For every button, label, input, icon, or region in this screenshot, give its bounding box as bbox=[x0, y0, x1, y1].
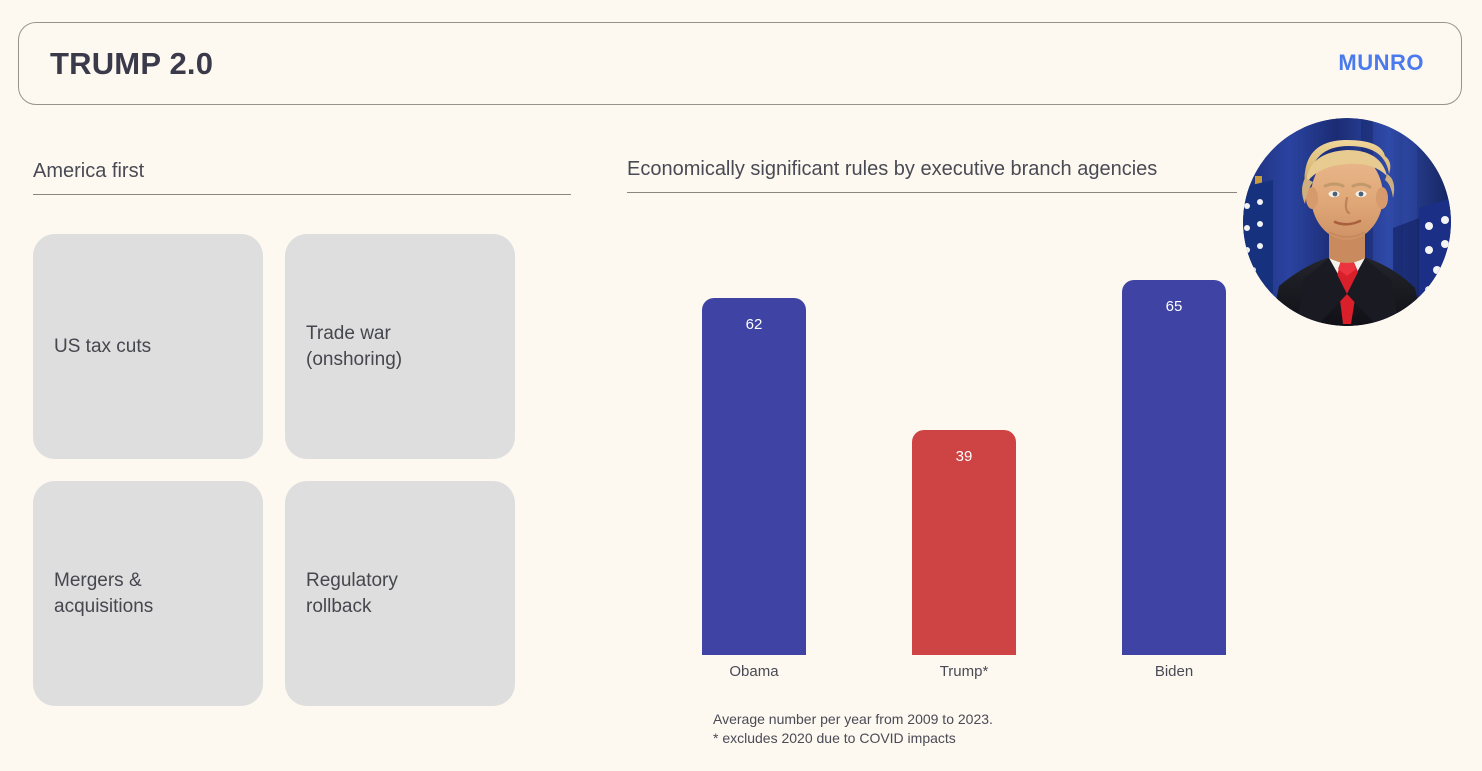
x-tick-label-biden: Biden bbox=[1122, 663, 1226, 680]
fact-card-regulatory-rollback[interactable]: Regulatory rollback bbox=[285, 481, 515, 706]
left-heading-divider bbox=[33, 194, 571, 195]
x-tick-label-obama: Obama bbox=[702, 663, 806, 680]
fact-card-label: Trade war (onshoring) bbox=[306, 321, 402, 373]
right-panel: Economically significant rules by execut… bbox=[627, 158, 1237, 193]
x-tick-label-trump: Trump* bbox=[912, 663, 1016, 680]
chart-footnote: Average number per year from 2009 to 202… bbox=[713, 710, 993, 748]
bar-obama[interactable]: 62 bbox=[702, 298, 806, 655]
bar-value-label: 62 bbox=[746, 316, 763, 333]
fact-card-mergers-acquisitions[interactable]: Mergers & acquisitions bbox=[33, 481, 263, 706]
bar-trump[interactable]: 39 bbox=[912, 430, 1016, 655]
munro-logo: MUNRO bbox=[1338, 50, 1424, 76]
chart-title: Economically significant rules by execut… bbox=[627, 158, 1237, 192]
left-section-heading: America first bbox=[33, 160, 571, 194]
fact-card-label: Regulatory rollback bbox=[306, 568, 398, 620]
fact-card-us-tax-cuts[interactable]: US tax cuts bbox=[33, 234, 263, 459]
fact-card-trade-war[interactable]: Trade war (onshoring) bbox=[285, 234, 515, 459]
page-title: TRUMP 2.0 bbox=[50, 46, 213, 82]
bar-biden[interactable]: 65 bbox=[1122, 280, 1226, 655]
bar-value-label: 39 bbox=[956, 448, 973, 465]
fact-card-label: Mergers & acquisitions bbox=[54, 568, 153, 620]
header-frame bbox=[18, 22, 1462, 105]
chart-heading-divider bbox=[627, 192, 1237, 193]
bar-chart: 623965 bbox=[627, 240, 1307, 655]
fact-card-label: US tax cuts bbox=[54, 334, 151, 360]
america-first-card-grid: US tax cuts Trade war (onshoring) Merger… bbox=[33, 234, 515, 706]
left-panel: America first bbox=[33, 160, 571, 195]
bar-value-label: 65 bbox=[1166, 298, 1183, 315]
donald-trump-portrait bbox=[1243, 118, 1451, 326]
